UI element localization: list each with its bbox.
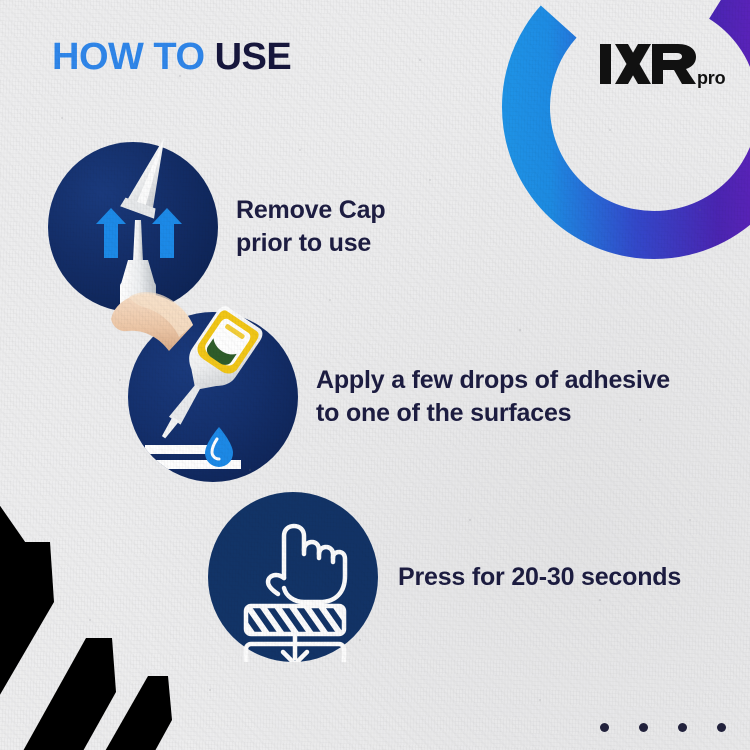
- apply-drops-icon: [93, 267, 333, 507]
- step-3-label: Press for 20-30 seconds: [398, 561, 681, 594]
- step-3-icon-circle: [208, 492, 378, 662]
- slide-dot-4[interactable]: [717, 723, 726, 732]
- step-1-label: Remove Cap prior to use: [236, 194, 385, 260]
- page-title: HOW TO USE: [52, 36, 291, 79]
- slide-dot-3[interactable]: [678, 723, 687, 732]
- gradient-ring-arc-svg: [489, 0, 750, 272]
- step-2-icon-circle: [128, 312, 298, 482]
- brand-logo-suffix: pro: [697, 68, 725, 89]
- step-3: Press for 20-30 seconds: [208, 492, 681, 662]
- step-2: Apply a few drops of adhesive to one of …: [128, 312, 670, 482]
- step-2-label: Apply a few drops of adhesive to one of …: [316, 364, 670, 430]
- slide-dots[interactable]: [600, 723, 726, 732]
- gradient-ring-arc: [489, 0, 750, 272]
- brand-logo-mark: [600, 42, 696, 90]
- slide-dot-1[interactable]: [600, 723, 609, 732]
- slide-dot-2[interactable]: [639, 723, 648, 732]
- brand-logo: pro: [600, 42, 725, 90]
- page-title-accent: HOW TO: [52, 36, 215, 78]
- page-title-dark: USE: [215, 36, 292, 78]
- press-down-icon: [208, 492, 378, 662]
- infographic-page: HOW TO USE pro: [0, 0, 750, 750]
- ixr-logo-icon: [600, 42, 696, 86]
